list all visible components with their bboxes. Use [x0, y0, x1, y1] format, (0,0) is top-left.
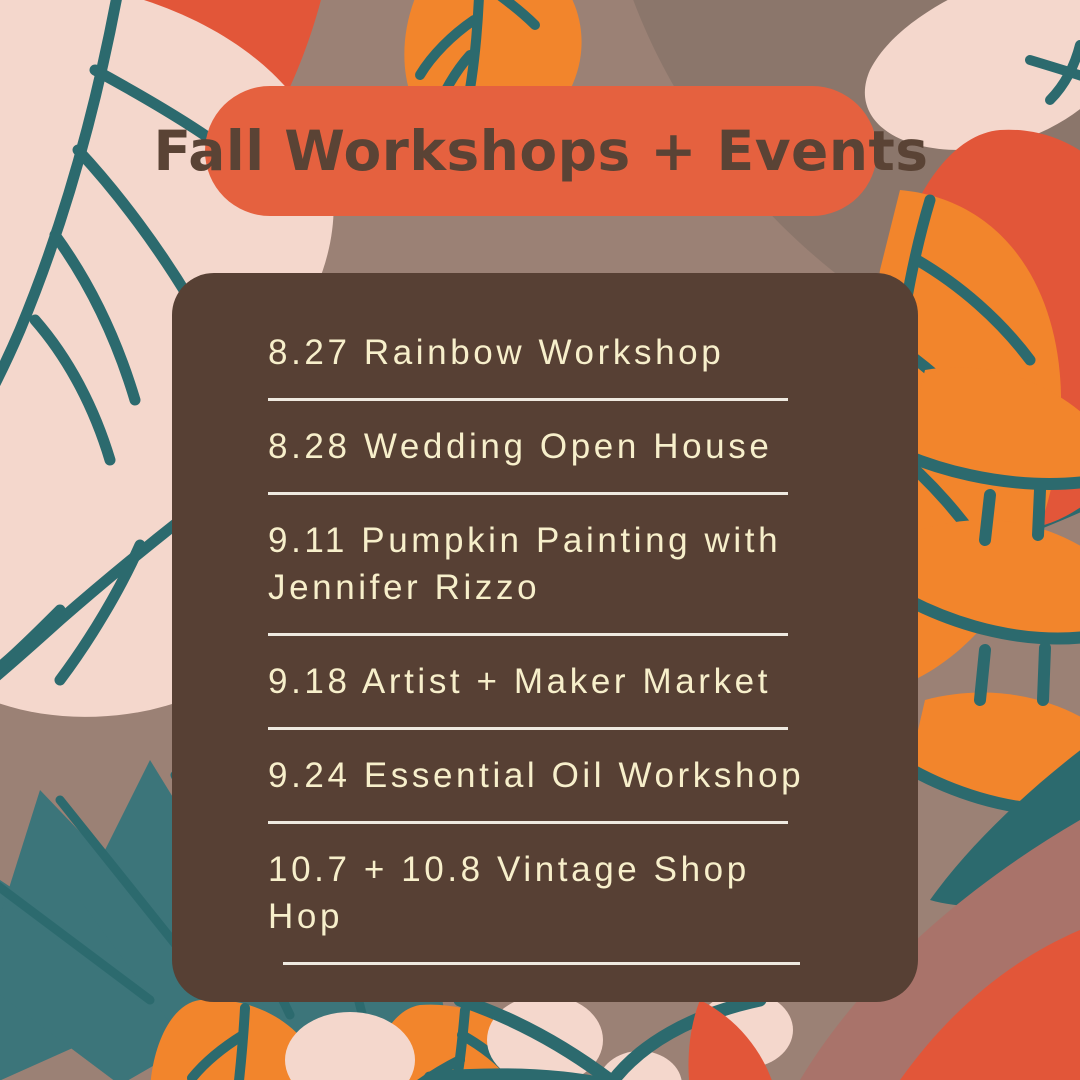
events-list: 8.27 Rainbow Workshop 8.28 Wedding Open …: [172, 329, 918, 965]
list-item: 10.7 + 10.8 Vintage Shop Hop: [172, 846, 918, 965]
event-divider: [283, 962, 800, 965]
event-divider: [268, 821, 788, 824]
title-banner: Fall Workshops + Events: [205, 86, 877, 216]
event-text: 8.28 Wedding Open House: [268, 423, 813, 470]
event-text: 9.11 Pumpkin Painting with Jennifer Rizz…: [268, 517, 813, 611]
event-divider: [268, 398, 788, 401]
event-divider: [268, 492, 788, 495]
event-text: 9.18 Artist + Maker Market: [268, 658, 813, 705]
event-divider: [268, 727, 788, 730]
page-title: Fall Workshops + Events: [153, 124, 928, 179]
list-item: 8.27 Rainbow Workshop: [172, 329, 918, 401]
events-panel: 8.27 Rainbow Workshop 8.28 Wedding Open …: [172, 273, 918, 1002]
event-text: 10.7 + 10.8 Vintage Shop Hop: [268, 846, 813, 940]
list-item: 9.24 Essential Oil Workshop: [172, 752, 918, 824]
list-item: 9.18 Artist + Maker Market: [172, 658, 918, 730]
event-text: 8.27 Rainbow Workshop: [268, 329, 813, 376]
event-text: 9.24 Essential Oil Workshop: [268, 752, 813, 799]
fall-events-poster: Fall Workshops + Events 8.27 Rainbow Wor…: [0, 0, 1080, 1080]
list-item: 9.11 Pumpkin Painting with Jennifer Rizz…: [172, 517, 918, 636]
list-item: 8.28 Wedding Open House: [172, 423, 918, 495]
event-divider: [268, 633, 788, 636]
